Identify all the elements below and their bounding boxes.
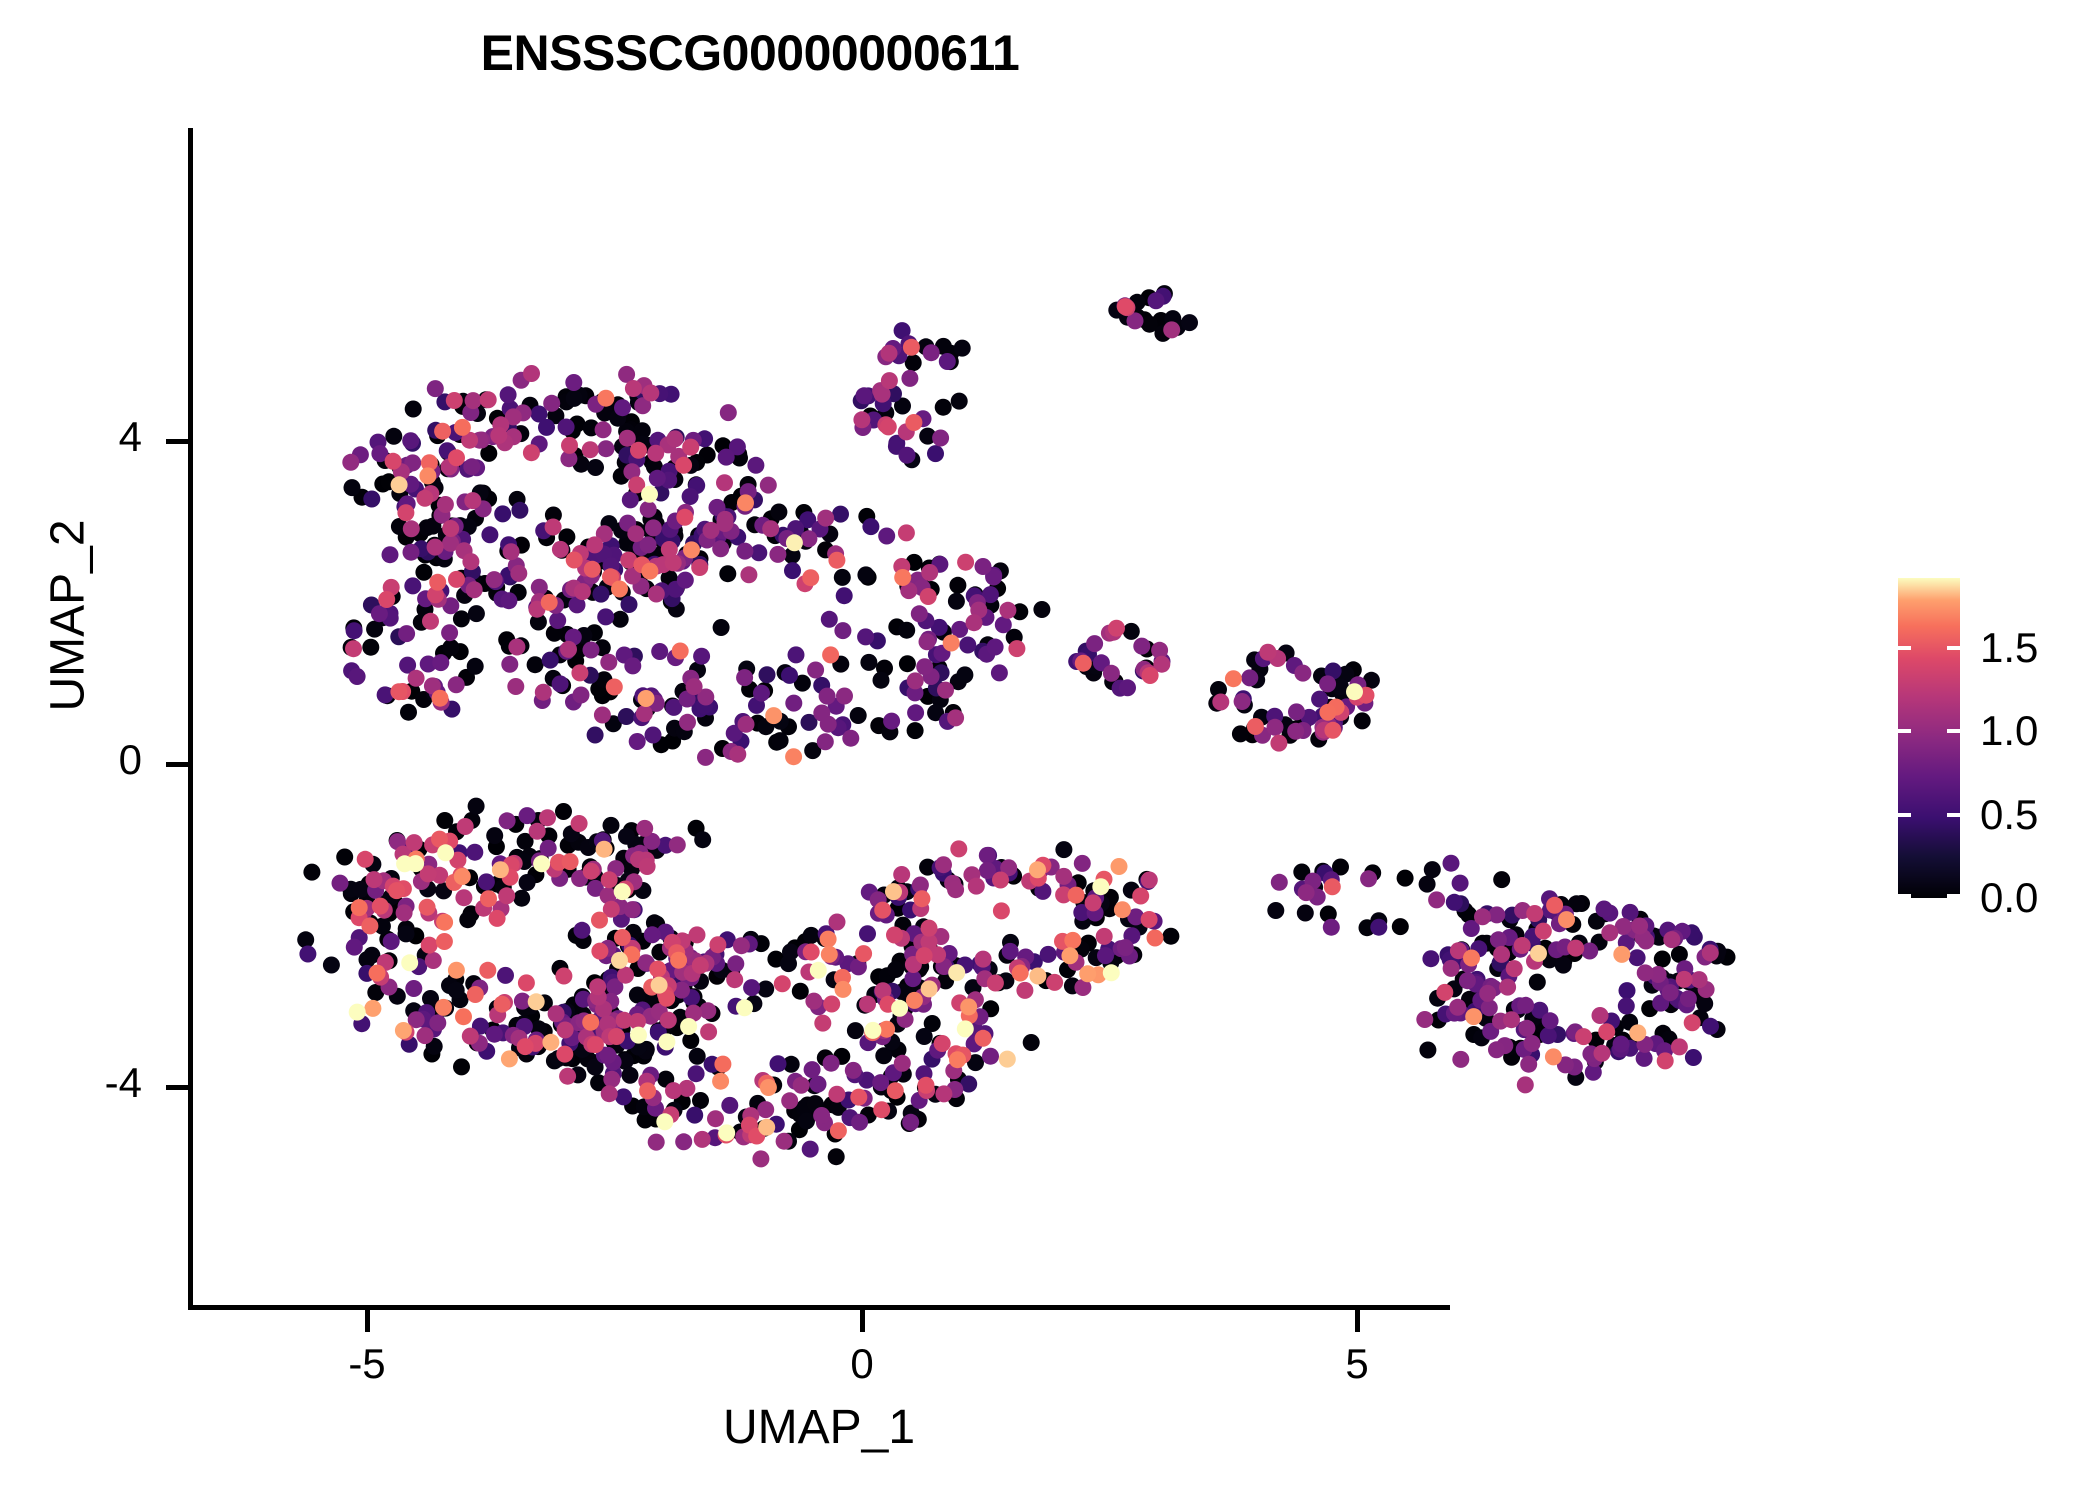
scatter-point (403, 520, 420, 537)
scatter-point (466, 844, 483, 861)
scatter-point (645, 727, 662, 744)
scatter-point (1530, 945, 1547, 962)
scatter-point (1114, 901, 1131, 918)
scatter-point (855, 945, 872, 962)
scatter-point (957, 1020, 974, 1037)
scatter-point (1270, 735, 1287, 752)
scatter-point (1490, 931, 1507, 948)
scatter-point (880, 418, 897, 435)
scatter-point (388, 882, 405, 899)
scatter-point (614, 883, 631, 900)
scatter-point (774, 975, 791, 992)
scatter-point (721, 1097, 738, 1114)
scatter-point (956, 666, 973, 683)
scatter-point (630, 1027, 647, 1044)
scatter-point (828, 1086, 845, 1103)
scatter-point (1267, 719, 1284, 736)
scatter-points-layer (192, 128, 1860, 1308)
scatter-point (1294, 665, 1311, 682)
scatter-point (1029, 968, 1046, 985)
scatter-point (853, 411, 870, 428)
scatter-point (1545, 1048, 1562, 1065)
scatter-point (405, 401, 422, 418)
scatter-point (618, 708, 635, 725)
scatter-point (786, 534, 803, 551)
scatter-point (499, 812, 516, 829)
scatter-point (1517, 997, 1534, 1014)
scatter-point (718, 449, 735, 466)
scatter-point (686, 678, 703, 695)
colorbar-tick-label: 1.5 (1980, 624, 2038, 672)
scatter-point (459, 911, 476, 928)
scatter-point (1526, 905, 1543, 922)
scatter-point (435, 999, 452, 1016)
scatter-point (383, 933, 400, 950)
colorbar-tick-label: 1.0 (1980, 707, 2038, 755)
scatter-point (836, 688, 853, 705)
scatter-point (442, 639, 459, 656)
scatter-point (640, 501, 657, 518)
scatter-point (1111, 858, 1128, 875)
scatter-point (1162, 928, 1179, 945)
scatter-point (597, 608, 614, 625)
scatter-point (455, 889, 472, 906)
scatter-point (1596, 901, 1613, 918)
scatter-point (759, 666, 776, 683)
scatter-point (641, 486, 658, 503)
scatter-point (397, 504, 414, 521)
scatter-point (454, 868, 471, 885)
scatter-point (1297, 905, 1314, 922)
scatter-point (406, 834, 423, 851)
scatter-point (539, 809, 556, 826)
y-axis-line (188, 128, 193, 1308)
scatter-point (1117, 939, 1134, 956)
scatter-point (1046, 974, 1063, 991)
scatter-point (987, 975, 1004, 992)
scatter-point (802, 1141, 819, 1158)
scatter-point (561, 437, 578, 454)
scatter-point (743, 979, 760, 996)
scatter-point (1360, 870, 1377, 887)
chart-canvas: ENSSSCG00000000611 -505-404 UMAP_1 UMAP_… (0, 0, 2100, 1500)
scatter-point (391, 476, 408, 493)
scatter-point (770, 1055, 787, 1072)
scatter-point (625, 380, 642, 397)
x-tick-mark (365, 1310, 370, 1332)
scatter-point (700, 1023, 717, 1040)
scatter-point (975, 558, 992, 575)
scatter-point (467, 986, 484, 1003)
scatter-point (881, 372, 898, 389)
scatter-point (665, 1082, 682, 1099)
scatter-point (916, 658, 933, 675)
scatter-point (492, 861, 509, 878)
scatter-point (1629, 1024, 1646, 1041)
scatter-point (382, 546, 399, 563)
colorbar-tick-label: 0.0 (1980, 874, 2038, 922)
scatter-point (803, 927, 820, 944)
scatter-point (1424, 861, 1441, 878)
scatter-point (498, 887, 515, 904)
scatter-point (834, 622, 851, 639)
scatter-point (542, 652, 559, 669)
scatter-point (346, 622, 363, 639)
scatter-point (548, 1005, 565, 1022)
scatter-point (1132, 888, 1149, 905)
scatter-point (921, 564, 938, 581)
scatter-point (862, 518, 879, 535)
scatter-point (817, 510, 834, 527)
scatter-point (804, 1061, 821, 1078)
scatter-point (1012, 965, 1029, 982)
scatter-point (533, 855, 550, 872)
scatter-point (873, 672, 890, 689)
y-tick-label: -4 (105, 1059, 142, 1107)
scatter-point (906, 992, 923, 1009)
scatter-point (832, 506, 849, 523)
scatter-point (776, 1133, 793, 1150)
scatter-point (689, 1048, 706, 1065)
scatter-point (957, 554, 974, 571)
scatter-point (891, 1000, 908, 1017)
scatter-point (601, 871, 618, 888)
x-tick-mark (1355, 1310, 1360, 1332)
scatter-point (661, 541, 678, 558)
scatter-point (571, 815, 588, 832)
scatter-point (480, 391, 497, 408)
scatter-point (850, 707, 867, 724)
scatter-point (1141, 911, 1158, 928)
scatter-point (1436, 984, 1453, 1001)
scatter-point (939, 353, 956, 370)
scatter-point (800, 530, 817, 547)
scatter-point (1663, 931, 1680, 948)
scatter-point (949, 577, 966, 594)
scatter-point (627, 525, 644, 542)
scatter-point (1601, 924, 1618, 941)
scatter-point (975, 1030, 992, 1047)
scatter-point (1163, 321, 1180, 338)
scatter-point (1097, 947, 1114, 964)
scatter-point (686, 1107, 703, 1124)
scatter-point (1581, 943, 1598, 960)
scatter-point (608, 1028, 625, 1045)
scatter-point (995, 616, 1012, 633)
scatter-point (552, 675, 569, 692)
scatter-point (921, 980, 938, 997)
scatter-point (556, 1046, 573, 1063)
scatter-point (694, 831, 711, 848)
scatter-point (762, 520, 779, 537)
scatter-point (885, 883, 902, 900)
y-tick-mark (166, 1085, 188, 1090)
scatter-point (1346, 683, 1363, 700)
scatter-point (658, 1033, 675, 1050)
x-axis-title: UMAP_1 (188, 1400, 1450, 1455)
scatter-point (859, 925, 876, 942)
scatter-point (899, 655, 916, 672)
scatter-point (1540, 1027, 1557, 1044)
scatter-point (518, 974, 535, 991)
scatter-point (805, 993, 822, 1010)
scatter-point (921, 920, 938, 937)
scatter-point (785, 748, 802, 765)
scatter-point (583, 642, 600, 659)
scatter-point (416, 490, 433, 507)
scatter-point (400, 704, 417, 721)
scatter-point (601, 1085, 618, 1102)
scatter-point (1086, 635, 1103, 652)
scatter-point (1637, 964, 1654, 981)
scatter-point (950, 840, 967, 857)
scatter-point (558, 419, 575, 436)
scatter-point (1631, 918, 1648, 935)
scatter-point (468, 605, 485, 622)
scatter-point (555, 968, 572, 985)
scatter-point (448, 571, 465, 588)
scatter-point (346, 939, 363, 956)
scatter-point (1671, 1038, 1688, 1055)
scatter-point (857, 628, 874, 645)
scatter-point (385, 428, 402, 445)
scatter-point (591, 912, 608, 929)
scatter-point (712, 540, 729, 557)
scatter-point (987, 639, 1004, 656)
scatter-point (1416, 1011, 1433, 1028)
scatter-point (872, 1074, 889, 1091)
scatter-point (594, 707, 611, 724)
scatter-point (821, 946, 838, 963)
scatter-point (692, 957, 709, 974)
scatter-point (629, 733, 646, 750)
scatter-point (1680, 990, 1697, 1007)
scatter-point (480, 890, 497, 907)
scatter-point (694, 1131, 711, 1148)
scatter-point (500, 386, 517, 403)
scatter-point (468, 798, 485, 815)
scatter-point (736, 999, 753, 1016)
scatter-point (500, 592, 517, 609)
scatter-point (651, 643, 668, 660)
scatter-point (916, 1028, 933, 1045)
scatter-point (611, 581, 628, 598)
scatter-point (606, 679, 623, 696)
scatter-point (1055, 868, 1072, 885)
scatter-point (894, 1055, 911, 1072)
scatter-point (390, 683, 407, 700)
scatter-point (1443, 855, 1460, 872)
scatter-point (747, 457, 764, 474)
scatter-point (901, 370, 918, 387)
scatter-point (699, 1002, 716, 1019)
scatter-point (738, 716, 755, 733)
scatter-point (842, 730, 859, 747)
scatter-point (893, 866, 910, 883)
scatter-point (932, 430, 949, 447)
scatter-point (557, 1022, 574, 1039)
scatter-point (927, 445, 944, 462)
scatter-point (403, 544, 420, 561)
scatter-point (919, 633, 936, 650)
scatter-point (1029, 861, 1046, 878)
scatter-point (1506, 960, 1523, 977)
scatter-point (645, 519, 662, 536)
scatter-point (1592, 1007, 1609, 1024)
scatter-point (720, 404, 737, 421)
scatter-point (899, 447, 916, 464)
scatter-point (1546, 897, 1563, 914)
scatter-point (1503, 1011, 1520, 1028)
scatter-point (948, 964, 965, 981)
scatter-point (523, 365, 540, 382)
scatter-point (486, 1026, 503, 1043)
scatter-point (821, 611, 838, 628)
scatter-point (920, 588, 937, 605)
scatter-point (527, 656, 544, 673)
scatter-point (1103, 665, 1120, 682)
scatter-point (1481, 999, 1498, 1016)
scatter-point (1657, 1052, 1674, 1069)
scatter-point (828, 1148, 845, 1165)
scatter-point (935, 399, 952, 416)
scatter-point (907, 704, 924, 721)
scatter-point (949, 1051, 966, 1068)
scatter-point (344, 479, 361, 496)
scatter-point (398, 625, 415, 642)
scatter-point (600, 654, 617, 671)
scatter-point (542, 1034, 559, 1051)
scatter-point (1370, 919, 1387, 936)
y-tick-label: 4 (119, 413, 142, 461)
scatter-point (405, 980, 422, 997)
scatter-point (907, 672, 924, 689)
scatter-point (898, 524, 915, 541)
scatter-point (562, 853, 579, 870)
scatter-point (859, 996, 876, 1013)
x-tick-label: -5 (348, 1340, 385, 1388)
scatter-point (1575, 1028, 1592, 1045)
scatter-point (1117, 298, 1134, 315)
scatter-point (614, 399, 631, 416)
scatter-point (1613, 946, 1630, 963)
scatter-point (639, 1082, 656, 1099)
scatter-point (810, 962, 827, 979)
scatter-point (587, 1036, 604, 1053)
scatter-point (611, 952, 628, 969)
scatter-point (587, 727, 604, 744)
scatter-point (691, 559, 708, 576)
scatter-point (1108, 620, 1125, 637)
scatter-point (857, 566, 874, 583)
scatter-point (508, 639, 525, 656)
scatter-point (991, 664, 1008, 681)
scatter-point (425, 952, 442, 969)
scatter-point (1319, 704, 1336, 721)
scatter-point (436, 914, 453, 931)
scatter-point (1618, 998, 1635, 1015)
scatter-point (757, 1101, 774, 1118)
x-tick-label: 0 (850, 1340, 873, 1388)
scatter-point (595, 421, 612, 438)
scatter-point (462, 1028, 479, 1045)
scatter-point (834, 569, 851, 586)
scatter-point (629, 987, 646, 1004)
scatter-point (883, 713, 900, 730)
scatter-point (1324, 878, 1341, 895)
scatter-point (404, 577, 421, 594)
scatter-point (398, 925, 415, 942)
scatter-point (845, 1062, 862, 1079)
scatter-point (968, 878, 985, 895)
scatter-point (648, 1134, 665, 1151)
scatter-point (437, 844, 454, 861)
scatter-point (1691, 971, 1708, 988)
scatter-point (1133, 638, 1150, 655)
scatter-point (1141, 872, 1158, 889)
scatter-point (622, 1067, 639, 1084)
scatter-point (366, 871, 383, 888)
scatter-point (1517, 1076, 1534, 1093)
scatter-point (736, 543, 753, 560)
scatter-point (736, 669, 753, 686)
scatter-point (903, 339, 920, 356)
scatter-point (1499, 979, 1516, 996)
scatter-point (887, 1082, 904, 1099)
scatter-point (992, 872, 1009, 889)
scatter-point (828, 552, 845, 569)
scatter-point (1542, 1012, 1559, 1029)
colorbar-gradient: 0.00.51.01.5 (1898, 578, 1960, 898)
scatter-point (966, 614, 983, 631)
y-tick-mark (166, 762, 188, 767)
scatter-point (1008, 640, 1025, 657)
scatter-point (688, 1065, 705, 1082)
scatter-point (415, 564, 432, 581)
colorbar-tick-label: 0.5 (1980, 791, 2038, 839)
scatter-point (740, 566, 757, 583)
scatter-point (638, 690, 655, 707)
scatter-point (519, 874, 536, 891)
scatter-point (591, 943, 608, 960)
scatter-point (1555, 957, 1572, 974)
scatter-point (753, 685, 770, 702)
scatter-point (836, 587, 853, 604)
scatter-point (417, 1027, 434, 1044)
scatter-point (907, 722, 924, 739)
scatter-point (689, 926, 706, 943)
scatter-point (823, 1055, 840, 1072)
scatter-point (1613, 1036, 1630, 1053)
colorbar-tick (1898, 729, 1911, 733)
scatter-point (336, 849, 353, 866)
scatter-point (898, 622, 915, 639)
scatter-point (692, 1092, 709, 1109)
scatter-point (408, 670, 425, 687)
scatter-point (535, 684, 552, 701)
scatter-point (813, 705, 830, 722)
scatter-point (442, 520, 459, 537)
scatter-point (364, 1000, 381, 1017)
scatter-point (1234, 693, 1251, 710)
scatter-point (429, 574, 446, 591)
scatter-point (782, 944, 799, 961)
scatter-point (675, 1133, 692, 1150)
scatter-point (453, 610, 470, 627)
scatter-point (905, 414, 922, 431)
scatter-point (954, 340, 971, 357)
scatter-point (999, 1051, 1016, 1068)
